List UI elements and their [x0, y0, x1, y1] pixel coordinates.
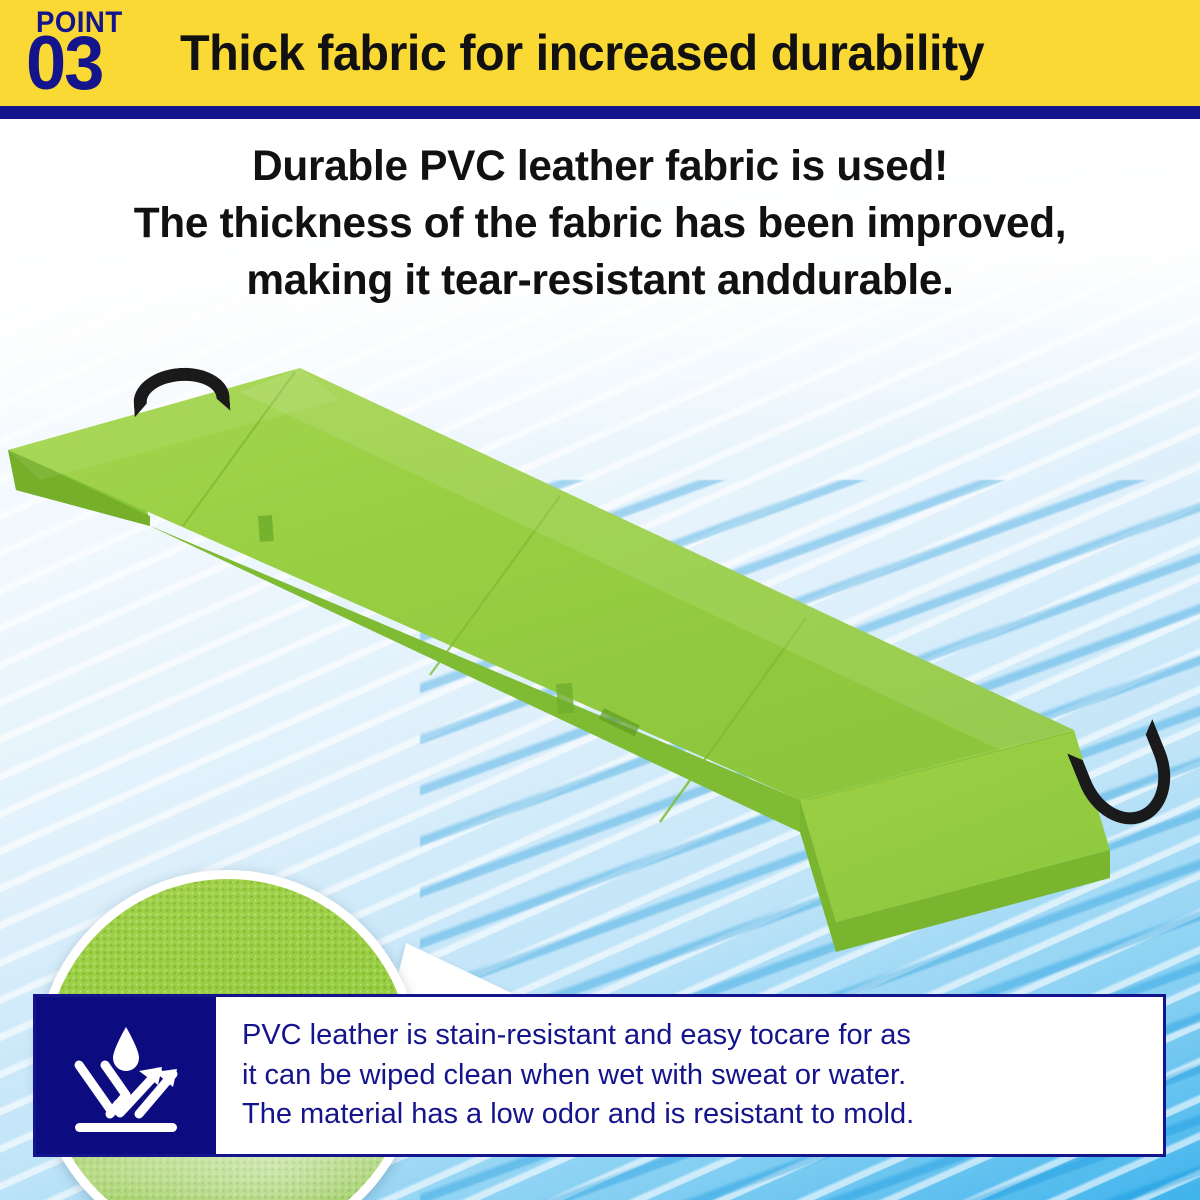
- product-photo: [0, 330, 1200, 970]
- callout-line-3: The material has a low odor and is resis…: [242, 1095, 1147, 1135]
- folding-mat-illustration: [0, 330, 1200, 970]
- callout-text-block: PVC leather is stain-resistant and easy …: [216, 997, 1163, 1154]
- feature-callout-box: PVC leather is stain-resistant and easy …: [33, 994, 1166, 1157]
- water-repellent-icon: [63, 1013, 189, 1139]
- callout-icon-panel: [36, 997, 216, 1154]
- page-title: Thick fabric for increased durability: [180, 24, 984, 82]
- callout-line-1: PVC leather is stain-resistant and easy …: [242, 1016, 1147, 1056]
- point-number: 03: [26, 26, 103, 102]
- header-banner: POINT 03 Thick fabric for increased dura…: [0, 0, 1200, 106]
- intro-line-3: making it tear-resistant anddurable.: [9, 252, 1191, 309]
- intro-line-2: The thickness of the fabric has been imp…: [9, 195, 1191, 252]
- intro-text-block: Durable PVC leather fabric is used! The …: [0, 138, 1200, 310]
- callout-line-2: it can be wiped clean when wet with swea…: [242, 1056, 1147, 1096]
- point-badge: POINT 03: [22, 4, 172, 104]
- infographic-page: POINT 03 Thick fabric for increased dura…: [0, 0, 1200, 1200]
- intro-line-1: Durable PVC leather fabric is used!: [9, 138, 1191, 195]
- header-divider-bar: [0, 106, 1200, 119]
